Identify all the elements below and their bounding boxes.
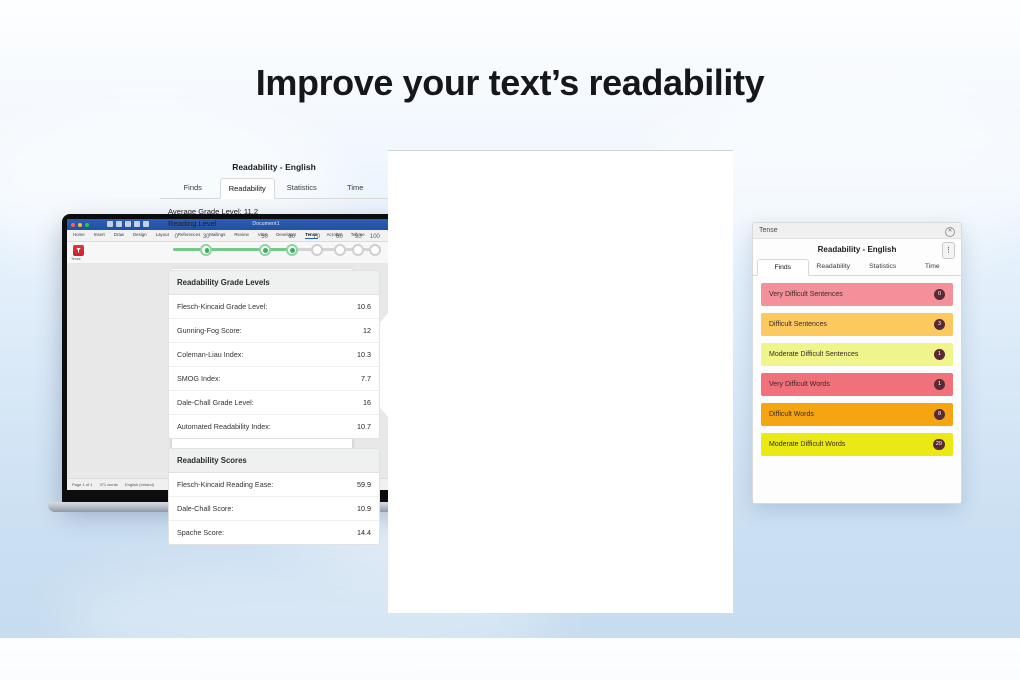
list-item[interactable]: Difficult Sentences 3 [761, 313, 953, 336]
finds-list: Very Difficult Sentences 0 Difficult Sen… [753, 276, 961, 464]
slider-tick: 50 [261, 234, 268, 240]
metric-value: 16 [363, 398, 371, 407]
status-badge: 1 [934, 379, 945, 390]
ribbon-tab[interactable]: Design [133, 232, 147, 239]
close-icon[interactable]: ✕ [945, 227, 955, 237]
finds-panel-tab-bar[interactable]: Finds Readability Statistics Time [753, 259, 961, 276]
table-row: Spache Score: 14.4 [169, 521, 379, 544]
table-row: Dale-Chall Grade Level: 16 [169, 391, 379, 415]
ribbon-tab[interactable]: Home [73, 232, 85, 239]
table-row: Flesch-Kincaid Grade Level: 10.6 [169, 295, 379, 319]
slider-tick: 100 [370, 234, 380, 240]
slider-tick: 0 [175, 234, 178, 240]
metric-label: Coleman-Liau Index: [177, 350, 243, 359]
metric-value: 59.9 [357, 480, 371, 489]
table-row: Dale-Chall Score: 10.9 [169, 497, 379, 521]
slider-knob-80[interactable] [334, 244, 346, 256]
tab-statistics[interactable]: Statistics [275, 178, 329, 198]
slider-tick: 70 [313, 234, 320, 240]
tab-finds[interactable]: Finds [166, 178, 220, 198]
slider-knob-50[interactable] [259, 244, 271, 256]
finds-panel: Tense ✕ Readability - English ⋮ Finds Re… [752, 222, 962, 504]
metric-value: 10.6 [357, 302, 371, 311]
slider-knob-30[interactable] [200, 244, 212, 256]
status-badge: 1 [934, 349, 945, 360]
slider-ticks: 0 30 50 60 70 80 90 100 [170, 234, 378, 243]
slider-knob-90[interactable] [352, 244, 364, 256]
slider-tick: 30 [203, 234, 210, 240]
status-badge: 29 [933, 439, 945, 450]
tab-readability[interactable]: Readability [220, 178, 276, 199]
list-item[interactable]: Very Difficult Sentences 0 [761, 283, 953, 306]
finds-item-label: Moderate Difficult Words [769, 441, 845, 448]
slider-tick: 90 [355, 234, 362, 240]
panel-tab-bar[interactable]: Finds Readability Statistics Time [160, 178, 388, 199]
finds-item-label: Difficult Words [769, 411, 814, 418]
status-badge: 0 [934, 289, 945, 300]
section-header: Readability Scores [169, 449, 379, 473]
metric-value: 10.9 [357, 504, 371, 513]
finds-panel-title: Readability - English ⋮ [753, 239, 961, 259]
finds-panel-window-label: Tense [759, 227, 778, 234]
metric-label: Flesch-Kincaid Grade Level: [177, 302, 267, 311]
metric-value: 14.4 [357, 528, 371, 537]
readability-scores-section: Readability Scores Flesch-Kincaid Readin… [168, 448, 380, 545]
section-spacer [160, 439, 388, 448]
metric-value: 10.7 [357, 422, 371, 431]
more-options-icon[interactable]: ⋮ [942, 242, 955, 259]
page-count: Page 1 of 1 [72, 482, 92, 487]
list-item[interactable]: Very Difficult Words 1 [761, 373, 953, 396]
status-badge: 8 [934, 409, 945, 420]
metric-value: 7.7 [361, 374, 371, 383]
table-row: Automated Readability Index: 10.7 [169, 415, 379, 438]
metric-label: Flesch-Kincaid Reading Ease: [177, 480, 273, 489]
reading-level-slider[interactable]: 0 30 50 60 70 80 90 100 [170, 234, 378, 260]
tab-finds[interactable]: Finds [757, 259, 809, 276]
tab-statistics[interactable]: Statistics [858, 259, 908, 275]
tense-addin-icon[interactable] [73, 245, 84, 256]
tab-time[interactable]: Time [329, 178, 383, 198]
tab-time[interactable]: Time [908, 259, 958, 275]
language-indicator[interactable]: English (Ireland) [125, 482, 154, 487]
metric-value: 10.3 [357, 350, 371, 359]
status-left: Page 1 of 1 371 words English (Ireland) [72, 482, 154, 487]
reading-level-label: Reading Level [160, 217, 388, 232]
finds-panel-titlebar: Tense ✕ [753, 223, 961, 239]
section-header: Readability Grade Levels [169, 271, 379, 295]
metric-label: Gunning-Fog Score: [177, 326, 242, 335]
slider-knob-100[interactable] [369, 244, 381, 256]
metric-label: Dale-Chall Score: [177, 504, 233, 513]
table-row: Coleman-Liau Index: 10.3 [169, 343, 379, 367]
metric-value: 12 [363, 326, 371, 335]
table-row: SMOG Index: 7.7 [169, 367, 379, 391]
ribbon-tab[interactable]: Draw [114, 232, 124, 239]
finds-panel-title-text: Readability - English [818, 245, 897, 254]
list-item[interactable]: Difficult Words 8 [761, 403, 953, 426]
panel-title: Readability - English [160, 155, 388, 178]
slider-tick: 60 [288, 234, 295, 240]
slider-knob-70[interactable] [311, 244, 323, 256]
slider-tick: 80 [336, 234, 343, 240]
readability-panel: Readability - English Finds Readability … [160, 155, 388, 610]
word-count: 371 words [99, 482, 117, 487]
table-row: Gunning-Fog Score: 12 [169, 319, 379, 343]
list-item[interactable]: Moderate Difficult Sentences 1 [761, 343, 953, 366]
slider-fill [173, 248, 289, 251]
ribbon-tab[interactable]: Insert [94, 232, 105, 239]
status-badge: 3 [934, 319, 945, 330]
finds-item-label: Moderate Difficult Sentences [769, 351, 858, 358]
finds-item-label: Difficult Sentences [769, 321, 827, 328]
finds-item-label: Very Difficult Sentences [769, 291, 843, 298]
average-grade-level: Average Grade Level: 11.2 [160, 199, 388, 217]
metric-label: Automated Readability Index: [177, 422, 271, 431]
metric-label: SMOG Index: [177, 374, 221, 383]
tab-readability[interactable]: Readability [809, 259, 859, 275]
table-row: Flesch-Kincaid Reading Ease: 59.9 [169, 473, 379, 497]
page-title: Improve your text’s readability [0, 62, 1020, 104]
list-item[interactable]: Moderate Difficult Words 29 [761, 433, 953, 456]
slider-knob-60[interactable] [286, 244, 298, 256]
finds-item-label: Very Difficult Words [769, 381, 830, 388]
callout-bubble [345, 150, 735, 615]
tense-addin-label: Tense [71, 257, 81, 261]
metric-label: Dale-Chall Grade Level: [177, 398, 254, 407]
metric-label: Spache Score: [177, 528, 224, 537]
readability-grade-levels-section: Readability Grade Levels Flesch-Kincaid … [168, 270, 380, 439]
